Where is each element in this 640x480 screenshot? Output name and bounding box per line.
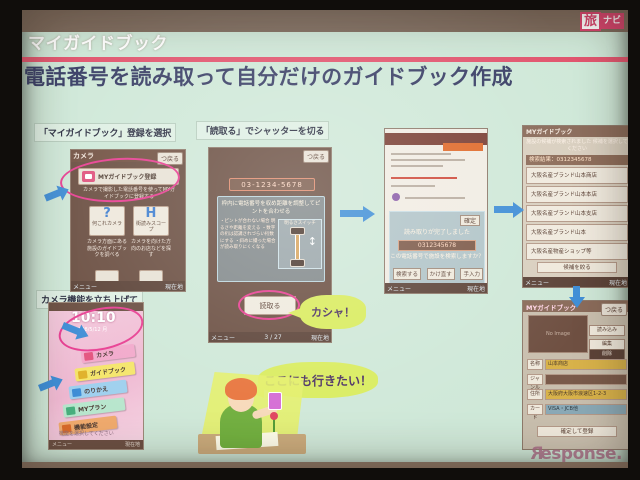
capture-help-tips: ・ピントが合わない場合 明るさや距離を変える ・数字の桁は認識されづらい桁数にす…	[220, 219, 276, 269]
phone1-softkey-left[interactable]: メニュー	[73, 282, 97, 291]
phone2-softkey-center: 3 / 27	[264, 334, 281, 341]
phone4-title: MYガイドブック	[523, 126, 628, 137]
question-icon: ?	[90, 207, 124, 221]
home-menu-label-guidebook: ガイドブック	[90, 364, 127, 377]
captured-photo	[385, 129, 487, 215]
tile2-label: 街読みスコープ	[134, 221, 168, 233]
caption-step2: 「読取る」でシャッターを切る	[196, 121, 329, 140]
phone3-softkey-right[interactable]: 現在地	[467, 284, 485, 293]
phone2-back-button[interactable]: つ戻る	[303, 150, 329, 163]
phone1-softkey-right[interactable]: 現在地	[165, 282, 183, 291]
dialog-search-button[interactable]: 検索する	[393, 268, 421, 280]
confirm-register-button[interactable]: 確定して登録	[537, 426, 617, 437]
phone3-softkeys: メニュー 現在地	[385, 283, 487, 293]
home-menu-label-myplan: MYプラン	[78, 402, 107, 414]
train-icon	[72, 388, 82, 397]
list-item[interactable]: 大阪名産ブランド山本	[526, 224, 628, 241]
field-row-name[interactable]: 名称 山本商店	[527, 359, 627, 370]
phone6-softkeys: メニュー 現在地	[49, 440, 143, 449]
town-scope-tile[interactable]: H 街読みスコープ	[133, 206, 169, 236]
list-item[interactable]: 大阪名産ブランド山本本店	[526, 186, 628, 203]
capture-help-panel: 枠内に電話番号を収め距離を調整してピントを合わせる ・ピントが合わない場合 明る…	[217, 196, 325, 282]
slide-topbar	[22, 10, 628, 32]
field-value-name: 山本商店	[545, 359, 627, 370]
dialog-confirm-button[interactable]: 確定	[460, 215, 480, 226]
response-watermark: Response.	[531, 444, 622, 464]
field-row-genre[interactable]: ジャンル	[527, 374, 627, 385]
narrow-results-button[interactable]: 候補を絞る	[537, 262, 617, 273]
dialog-manual-button[interactable]: 手入力	[460, 268, 483, 280]
tile1-label: 何これカメラ	[90, 221, 124, 227]
list-item[interactable]: 大阪名産物産ショップ等	[526, 243, 628, 260]
recognition-dialog: 確定 読み取りが完了しました 0312345678 この電話番号で施設を検索しま…	[389, 211, 485, 285]
what-is-this-camera-tile[interactable]: ? 何これカメラ	[89, 206, 125, 236]
home-menu-item-myplan[interactable]: MYプラン	[62, 397, 125, 417]
book-icon	[78, 370, 88, 379]
brightness-switch-panel: 明るさスイッチ ↕	[278, 219, 322, 269]
phone2-softkeys: メニュー 3 / 27 現在地	[209, 332, 331, 342]
phone-screenshot-guidebook-entry: MYガイドブック つ戻る No Image 読み込み 編集 削除 名称 山本商店…	[522, 300, 628, 450]
caption-step1: 「マイガイドブック」登録を選択	[34, 123, 176, 142]
tabinavi-logo: 旅 ナビ	[580, 11, 624, 31]
dialog-button-row: 検索する かけ直す 手入力	[393, 268, 483, 280]
illustration-woman-with-phone	[194, 368, 310, 454]
tile1-description: カメラ方面にある施設のガイドブックを調べる	[87, 239, 127, 259]
captured-phone-number: 03-1234-5678	[229, 178, 315, 191]
phone5-back-button[interactable]: つ戻る	[601, 303, 627, 316]
phone6-softkey-left[interactable]: メニュー	[52, 441, 72, 448]
field-label-address: 住所	[527, 389, 543, 400]
projection-room: 旅 ナビ マイガイドブック 電話番号を読み取って自分だけのガイドブック作成 「マ…	[0, 0, 640, 480]
phone3-softkey-left[interactable]: メニュー	[387, 284, 411, 293]
brightness-slider[interactable]: ↕	[279, 226, 321, 268]
field-row-address[interactable]: 住所 大阪府大阪市浪速区1-2-3	[527, 389, 627, 400]
dialog-sub-message: この電話番号で施設を検索しますか？	[390, 253, 484, 261]
capture-help-heading: 枠内に電話番号を収め距離を調整してピントを合わせる	[218, 197, 324, 219]
phone-screenshot-recognition-result: 確定 読み取りが完了しました 0312345678 この電話番号で施設を検索しま…	[384, 128, 488, 294]
phone2-softkey-right[interactable]: 現在地	[311, 333, 329, 342]
phone-screenshot-search-results: MYガイドブック 施設の候補が検索されました 候補を選択してください 検索結果：…	[522, 125, 628, 288]
slider-knob-dark[interactable]	[290, 259, 305, 267]
slider-knob-bright[interactable]	[290, 227, 305, 235]
page-title: マイガイドブック	[22, 32, 628, 58]
scope-icon: H	[134, 207, 168, 221]
home-menu-item-transfer[interactable]: のりかえ	[68, 380, 127, 400]
tile2-description: カメラを向けた方向のお店などを探す	[131, 239, 171, 259]
logo-kanji: 旅	[580, 12, 601, 31]
read-button[interactable]: 読み込み	[589, 325, 625, 336]
watermark-text: esponse.	[540, 444, 622, 464]
phone1-softkeys: メニュー 現在地	[71, 281, 185, 291]
slide-subtitle: 電話番号を読み取って自分だけのガイドブック作成	[24, 62, 628, 92]
field-label-genre: ジャンル	[527, 374, 543, 385]
camera-icon	[84, 351, 94, 360]
callout-shutter-sfx: カシャ！	[300, 295, 366, 329]
updown-arrow-icon: ↕	[308, 236, 317, 247]
slide-bottom-band	[22, 462, 628, 468]
phone4-search-bar: 検索結果：0312345678	[526, 155, 628, 165]
callout-tail-shutter	[288, 306, 306, 320]
home-menu-item-guidebook[interactable]: ガイドブック	[74, 361, 135, 381]
phone6-softkey-right[interactable]: 現在地	[125, 441, 140, 448]
phone4-softkey-left[interactable]: メニュー	[525, 278, 549, 287]
field-value-genre	[545, 374, 627, 385]
phone4-note: 施設の候補が検索されました 候補を選択してください	[526, 139, 628, 153]
field-value-card: VISA・JCB他	[545, 404, 627, 415]
search-result-list: 大阪名産ブランド山本商店 大阪名産ブランド山本本店 大阪名産ブランド山本支店 大…	[526, 167, 628, 262]
list-item[interactable]: 大阪名産ブランド山本商店	[526, 167, 628, 184]
photo-orange-block	[443, 143, 483, 151]
field-row-card[interactable]: カード VISA・JCB他	[527, 404, 627, 415]
dialog-recognized-number: 0312345678	[398, 240, 476, 251]
presentation-slide: 旅 ナビ マイガイドブック 電話番号を読み取って自分だけのガイドブック作成 「マ…	[22, 10, 628, 468]
list-item[interactable]: 大阪名産ブランド山本支店	[526, 205, 628, 222]
field-label-name: 名称	[527, 359, 543, 370]
dialog-retry-button[interactable]: かけ直す	[427, 268, 455, 280]
logo-kana: ナビ	[601, 13, 624, 29]
field-label-card: カード	[527, 404, 543, 415]
phone4-softkey-right[interactable]: 現在地	[609, 278, 627, 287]
home-menu-hint: 機能を選択してください	[59, 430, 114, 437]
home-menu-label-transfer: のりかえ	[84, 384, 109, 396]
field-value-address: 大阪府大阪市浪速区1-2-3	[545, 389, 627, 400]
entry-thumbnail: No Image	[528, 315, 588, 353]
plan-icon	[66, 406, 76, 415]
phone2-softkey-left[interactable]: メニュー	[211, 333, 235, 342]
dialog-message: 読み取りが完了しました	[390, 228, 484, 238]
